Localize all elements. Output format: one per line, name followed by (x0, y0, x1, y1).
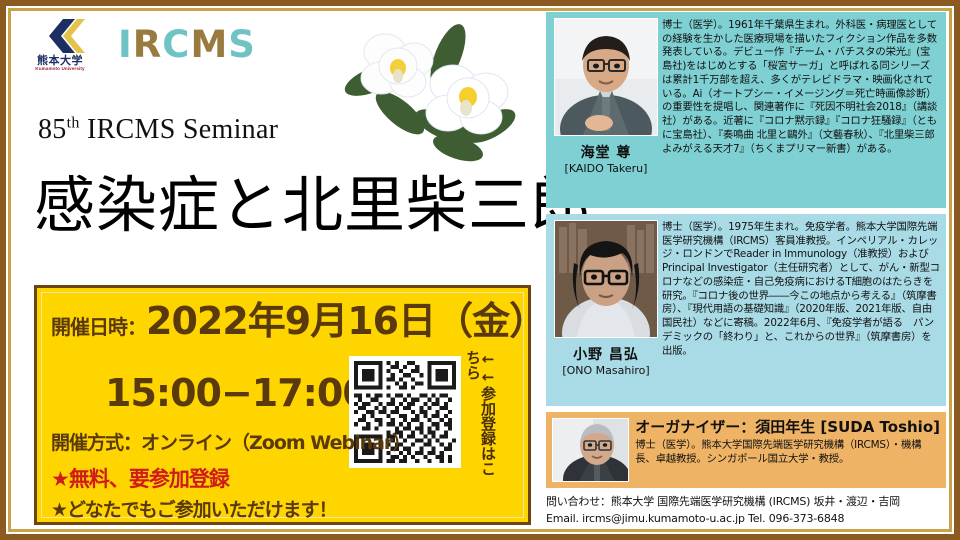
event-date-label: 開催日時： (51, 311, 146, 340)
speaker-panel-kaido: 海堂 尊 [KAIDO Takeru] 博士（医学）。1961年千葉県生まれ。外… (546, 12, 946, 208)
seminar-suffix: IRCMS Seminar (80, 114, 279, 145)
organizer-body: オーガナイザー：須田年生 [SUDA Toshio] 博士（医学）。熊本大学国際… (629, 418, 940, 482)
contact-footer: 問い合わせ：熊本大学 国際先端医学研究機構 (IRCMS) 坂井・渡辺・吉岡 E… (546, 494, 946, 527)
organizer-title: オーガナイザー：須田年生 [SUDA Toshio] (635, 418, 940, 436)
right-column: 海堂 尊 [KAIDO Takeru] 博士（医学）。1961年千葉県生まれ。外… (546, 12, 946, 528)
speaker-bio-kaido: 博士（医学）。1961年千葉県生まれ。外科医・病理医としての経験を生かした医療現… (660, 18, 940, 202)
speaker-name-jp-ono: 小野 昌弘 (573, 344, 639, 364)
event-mode-line: 開催方式：オンライン（Zoom Webinar） (51, 428, 410, 455)
kumamoto-chevron-icon (33, 18, 87, 54)
seminar-number: 85 (38, 114, 67, 145)
event-info-box: 開催日時： 2022年9月16日（金） 15:00−17:00 (34, 285, 531, 525)
kumamoto-logo-jp: 熊本大学 (37, 55, 83, 67)
logo-row: 熊本大学 Kumamoto University IRCMS (24, 18, 256, 71)
speaker-photo-ono (554, 220, 658, 338)
seminar-number-heading: 85th IRCMS Seminar (38, 114, 278, 146)
event-date-row: 開催日時： 2022年9月16日（金） (51, 302, 546, 340)
speaker-photo-kaido (554, 18, 658, 136)
kumamoto-university-logo: 熊本大学 Kumamoto University (24, 18, 96, 71)
organizer-photo-suda (552, 418, 629, 482)
left-column: 熊本大学 Kumamoto University IRCMS (16, 14, 536, 526)
camellia-flower-icon (338, 18, 528, 163)
page-title: 感染症と北里柴三郎 (34, 172, 592, 240)
speaker-photo-column: 海堂 尊 [KAIDO Takeru] (552, 18, 660, 202)
speaker-bio-ono: 博士（医学）。1975年生まれ。免疫学者。熊本大学国際先端医学研究機構（IRCM… (660, 220, 940, 400)
speaker-name-en-kaido: [KAIDO Takeru] (565, 162, 648, 175)
speaker-panel-ono: 小野 昌弘 [ONO Masahiro] 博士（医学）。1975年生まれ。免疫学… (546, 214, 946, 406)
ircms-logo: IRCMS (118, 26, 256, 63)
contact-line-2: Email. ircms@jimu.kumamoto-u.ac.jp Tel. … (546, 511, 946, 528)
organizer-panel: オーガナイザー：須田年生 [SUDA Toshio] 博士（医学）。熊本大学国際… (546, 412, 946, 488)
kumamoto-logo-en: Kumamoto University (35, 67, 84, 72)
event-free-line: ★無料、要参加登録 (51, 463, 229, 493)
seminar-poster: 熊本大学 Kumamoto University IRCMS (0, 0, 960, 540)
organizer-description: 博士（医学）。熊本大学国際先端医学研究機構（IRCMS）・機構長、卓越教授。シン… (635, 438, 940, 466)
event-date-value: 2022年9月16日（金） (146, 302, 546, 340)
speaker-name-jp-kaido: 海堂 尊 (581, 142, 632, 162)
speaker-name-en-ono: [ONO Masahiro] (562, 364, 649, 377)
registration-qr-caption: ←←参加登録はこちら (469, 350, 495, 480)
contact-line-1: 問い合わせ：熊本大学 国際先端医学研究機構 (IRCMS) 坂井・渡辺・吉岡 (546, 494, 946, 511)
event-anyone-line: ★どなたでもご参加いただけます！ (51, 495, 337, 522)
event-time-value: 15:00−17:00 (105, 374, 368, 412)
seminar-ordinal: th (67, 115, 80, 132)
speaker-photo-column: 小野 昌弘 [ONO Masahiro] (552, 220, 660, 400)
